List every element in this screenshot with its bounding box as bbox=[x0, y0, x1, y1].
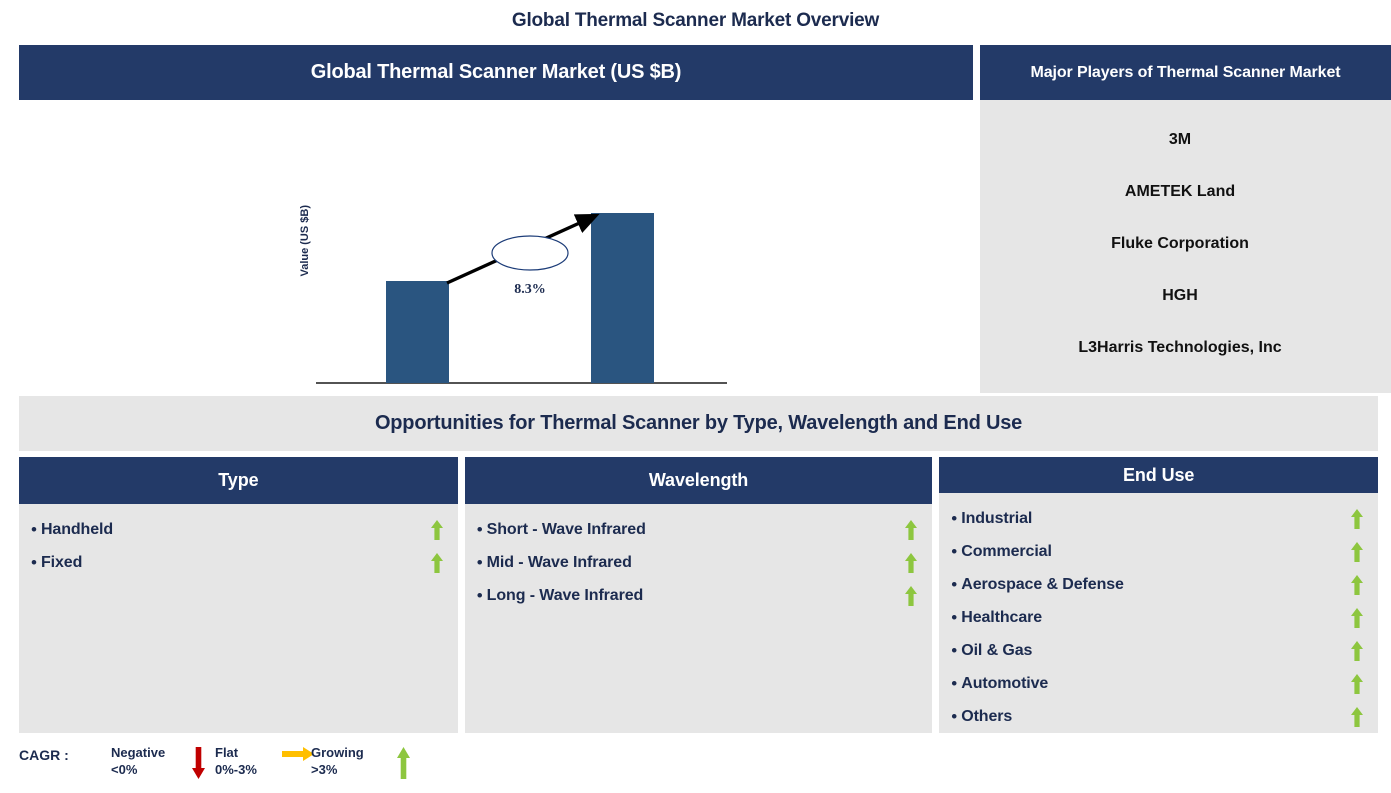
legend-entry-growing: Growing >3% bbox=[311, 744, 364, 778]
column-header-end-use: End Use bbox=[939, 457, 1378, 493]
legend-entry-flat: Flat 0%-3% bbox=[215, 744, 257, 778]
column-end-use: End Use • Industrial • Commercial • Aero… bbox=[939, 457, 1378, 733]
arrow-up-icon bbox=[1350, 673, 1364, 695]
opportunities-banner: Opportunities for Thermal Scanner by Typ… bbox=[19, 396, 1378, 451]
column-wavelength: Wavelength • Short - Wave Infrared • Mid… bbox=[465, 457, 933, 733]
major-players-panel: Major Players of Thermal Scanner Market … bbox=[980, 45, 1391, 393]
cagr-value-label: 8.3% bbox=[492, 282, 568, 298]
column-type: Type • Handheld • Fixed bbox=[19, 457, 458, 733]
bullet-icon: • bbox=[951, 543, 957, 560]
bullet-icon: • bbox=[31, 554, 37, 571]
page-title: Global Thermal Scanner Market Overview bbox=[0, 10, 1391, 32]
cagr-legend: CAGR : Negative <0% Flat 0%-3% Growing >… bbox=[19, 742, 449, 788]
arrow-up-icon bbox=[430, 519, 444, 541]
list-item: • Oil & Gas bbox=[939, 634, 1378, 667]
category-label: Fixed bbox=[41, 554, 430, 572]
list-item: L3Harris Technologies, Inc bbox=[980, 322, 1380, 374]
category-label: Aerospace & Defense bbox=[961, 576, 1350, 594]
list-item: • Fixed bbox=[19, 546, 458, 579]
column-items-type: • Handheld • Fixed bbox=[19, 504, 458, 733]
category-label: Mid - Wave Infrared bbox=[487, 554, 905, 572]
bullet-icon: • bbox=[477, 587, 483, 604]
list-item: • Mid - Wave Infrared bbox=[465, 546, 933, 579]
arrow-up-icon bbox=[1350, 607, 1364, 629]
list-item: • Healthcare bbox=[939, 601, 1378, 634]
column-header-wavelength: Wavelength bbox=[465, 457, 933, 504]
arrow-up-icon bbox=[1350, 508, 1364, 530]
category-label: Healthcare bbox=[961, 609, 1350, 627]
bar-2025 bbox=[386, 281, 449, 383]
list-item: • Long - Wave Infrared bbox=[465, 579, 933, 612]
arrow-up-icon bbox=[430, 552, 444, 574]
arrow-up-icon bbox=[1350, 706, 1364, 728]
bullet-icon: • bbox=[31, 521, 37, 538]
chart-plot-area: Value (US $B) 8.3% 2025 2031 Source : Lu… bbox=[19, 100, 973, 393]
bullet-icon: • bbox=[951, 609, 957, 626]
list-item: • Automotive bbox=[939, 667, 1378, 700]
bullet-icon: • bbox=[477, 521, 483, 538]
bullet-icon: • bbox=[951, 708, 957, 725]
column-items-wavelength: • Short - Wave Infrared • Mid - Wave Inf… bbox=[465, 504, 933, 733]
arrow-up-icon bbox=[904, 585, 918, 607]
major-players-header: Major Players of Thermal Scanner Market bbox=[980, 45, 1391, 100]
bullet-icon: • bbox=[951, 510, 957, 527]
cagr-callout-ellipse bbox=[492, 236, 568, 270]
arrow-up-icon bbox=[396, 746, 411, 780]
category-label: Others bbox=[961, 708, 1350, 726]
list-item: • Short - Wave Infrared bbox=[465, 513, 933, 546]
list-item: AMETEK Land bbox=[980, 166, 1380, 218]
list-item: 3M bbox=[980, 114, 1380, 166]
category-label: Oil & Gas bbox=[961, 642, 1350, 660]
bullet-icon: • bbox=[951, 576, 957, 593]
category-label: Automotive bbox=[961, 675, 1350, 693]
legend-name: Negative bbox=[111, 744, 165, 761]
legend-entry-negative: Negative <0% bbox=[111, 744, 165, 778]
list-item: HGH bbox=[980, 270, 1380, 322]
list-item: • Commercial bbox=[939, 535, 1378, 568]
opportunity-columns: Type • Handheld • Fixed Wavelength • bbox=[19, 457, 1378, 733]
list-item: Fluke Corporation bbox=[980, 218, 1380, 270]
arrow-right-icon bbox=[281, 746, 315, 762]
list-item: • Others bbox=[939, 700, 1378, 733]
category-label: Long - Wave Infrared bbox=[487, 587, 905, 605]
arrow-up-icon bbox=[1350, 541, 1364, 563]
legend-range: <0% bbox=[111, 761, 165, 778]
category-label: Industrial bbox=[961, 510, 1350, 528]
list-item: • Industrial bbox=[939, 502, 1378, 535]
bullet-icon: • bbox=[951, 642, 957, 659]
list-item: • Handheld bbox=[19, 513, 458, 546]
list-item: • Aerospace & Defense bbox=[939, 568, 1378, 601]
bar-2031 bbox=[591, 213, 654, 383]
category-label: Handheld bbox=[41, 521, 430, 539]
arrow-up-icon bbox=[1350, 640, 1364, 662]
column-header-type: Type bbox=[19, 457, 458, 504]
cagr-legend-title: CAGR : bbox=[19, 747, 69, 763]
market-chart-panel: Global Thermal Scanner Market (US $B) Va… bbox=[19, 45, 973, 393]
chart-panel-header: Global Thermal Scanner Market (US $B) bbox=[19, 45, 973, 100]
legend-name: Growing bbox=[311, 744, 364, 761]
arrow-up-icon bbox=[1350, 574, 1364, 596]
category-label: Short - Wave Infrared bbox=[487, 521, 905, 539]
arrow-up-icon bbox=[904, 552, 918, 574]
column-items-end-use: • Industrial • Commercial • Aerospace & … bbox=[939, 493, 1378, 733]
legend-range: >3% bbox=[311, 761, 364, 778]
legend-range: 0%-3% bbox=[215, 761, 257, 778]
category-label: Commercial bbox=[961, 543, 1350, 561]
bullet-icon: • bbox=[951, 675, 957, 692]
arrow-up-icon bbox=[904, 519, 918, 541]
bar-chart-svg bbox=[19, 100, 973, 393]
arrow-down-icon bbox=[191, 746, 206, 780]
bullet-icon: • bbox=[477, 554, 483, 571]
major-players-list: 3M AMETEK Land Fluke Corporation HGH L3H… bbox=[980, 100, 1391, 393]
legend-name: Flat bbox=[215, 744, 257, 761]
